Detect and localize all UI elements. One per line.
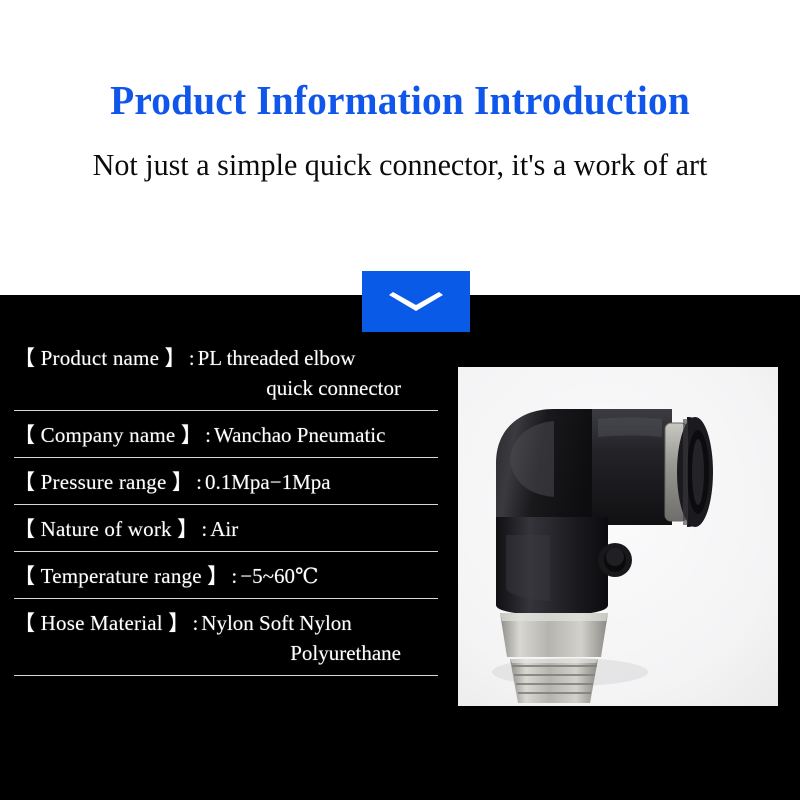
spec-value-continued: Polyurethane bbox=[14, 638, 438, 668]
spec-row-nature-of-work: 【 Nature of work 】:Air bbox=[14, 514, 438, 552]
spec-row-temperature-range: 【 Temperature range 】:−5~60℃ bbox=[14, 561, 438, 599]
spec-row-hose-material: 【 Hose Material 】:Nylon Soft Nylon Polyu… bbox=[14, 608, 438, 676]
spec-separator: : bbox=[189, 611, 201, 635]
spec-list: 【 Product name 】:PL threaded elbow quick… bbox=[14, 343, 438, 676]
spec-row-company-name: 【 Company name 】:Wanchao Pneumatic bbox=[14, 420, 438, 458]
spec-value-continued: quick connector bbox=[14, 373, 438, 403]
spec-panel: 【 Product name 】:PL threaded elbow quick… bbox=[0, 295, 800, 800]
spec-value: 0.1Mpa−1Mpa bbox=[205, 470, 331, 494]
spec-value: −5~60℃ bbox=[240, 564, 318, 588]
spec-separator: : bbox=[193, 470, 205, 494]
spec-value: Wanchao Pneumatic bbox=[214, 423, 386, 447]
spec-separator: : bbox=[186, 346, 198, 370]
spec-value: Air bbox=[210, 517, 238, 541]
header-section: Product Information Introduction Not jus… bbox=[0, 0, 800, 295]
scroll-down-badge[interactable] bbox=[362, 271, 470, 332]
spec-label: 【 Hose Material 】 bbox=[14, 611, 189, 635]
spec-separator: : bbox=[228, 564, 240, 588]
spec-row-product-name: 【 Product name 】:PL threaded elbow quick… bbox=[14, 343, 438, 411]
page-subtitle: Not just a simple quick connector, it's … bbox=[12, 145, 788, 185]
spec-label: 【 Temperature range 】 bbox=[14, 564, 228, 588]
spec-label: 【 Product name 】 bbox=[14, 346, 186, 370]
product-image-container bbox=[458, 367, 778, 800]
spec-separator: : bbox=[202, 423, 214, 447]
spec-label: 【 Company name 】 bbox=[14, 423, 202, 447]
spec-label: 【 Nature of work 】 bbox=[14, 517, 198, 541]
product-photo-pl-elbow-fitting bbox=[458, 367, 778, 706]
spec-label: 【 Pressure range 】 bbox=[14, 470, 193, 494]
spec-row-pressure-range: 【 Pressure range 】:0.1Mpa−1Mpa bbox=[14, 467, 438, 505]
product-info-page: Product Information Introduction Not jus… bbox=[0, 0, 800, 800]
spec-value: PL threaded elbow bbox=[198, 346, 356, 370]
spec-separator: : bbox=[198, 517, 210, 541]
page-title: Product Information Introduction bbox=[16, 74, 784, 126]
spec-value: Nylon Soft Nylon bbox=[201, 611, 352, 635]
